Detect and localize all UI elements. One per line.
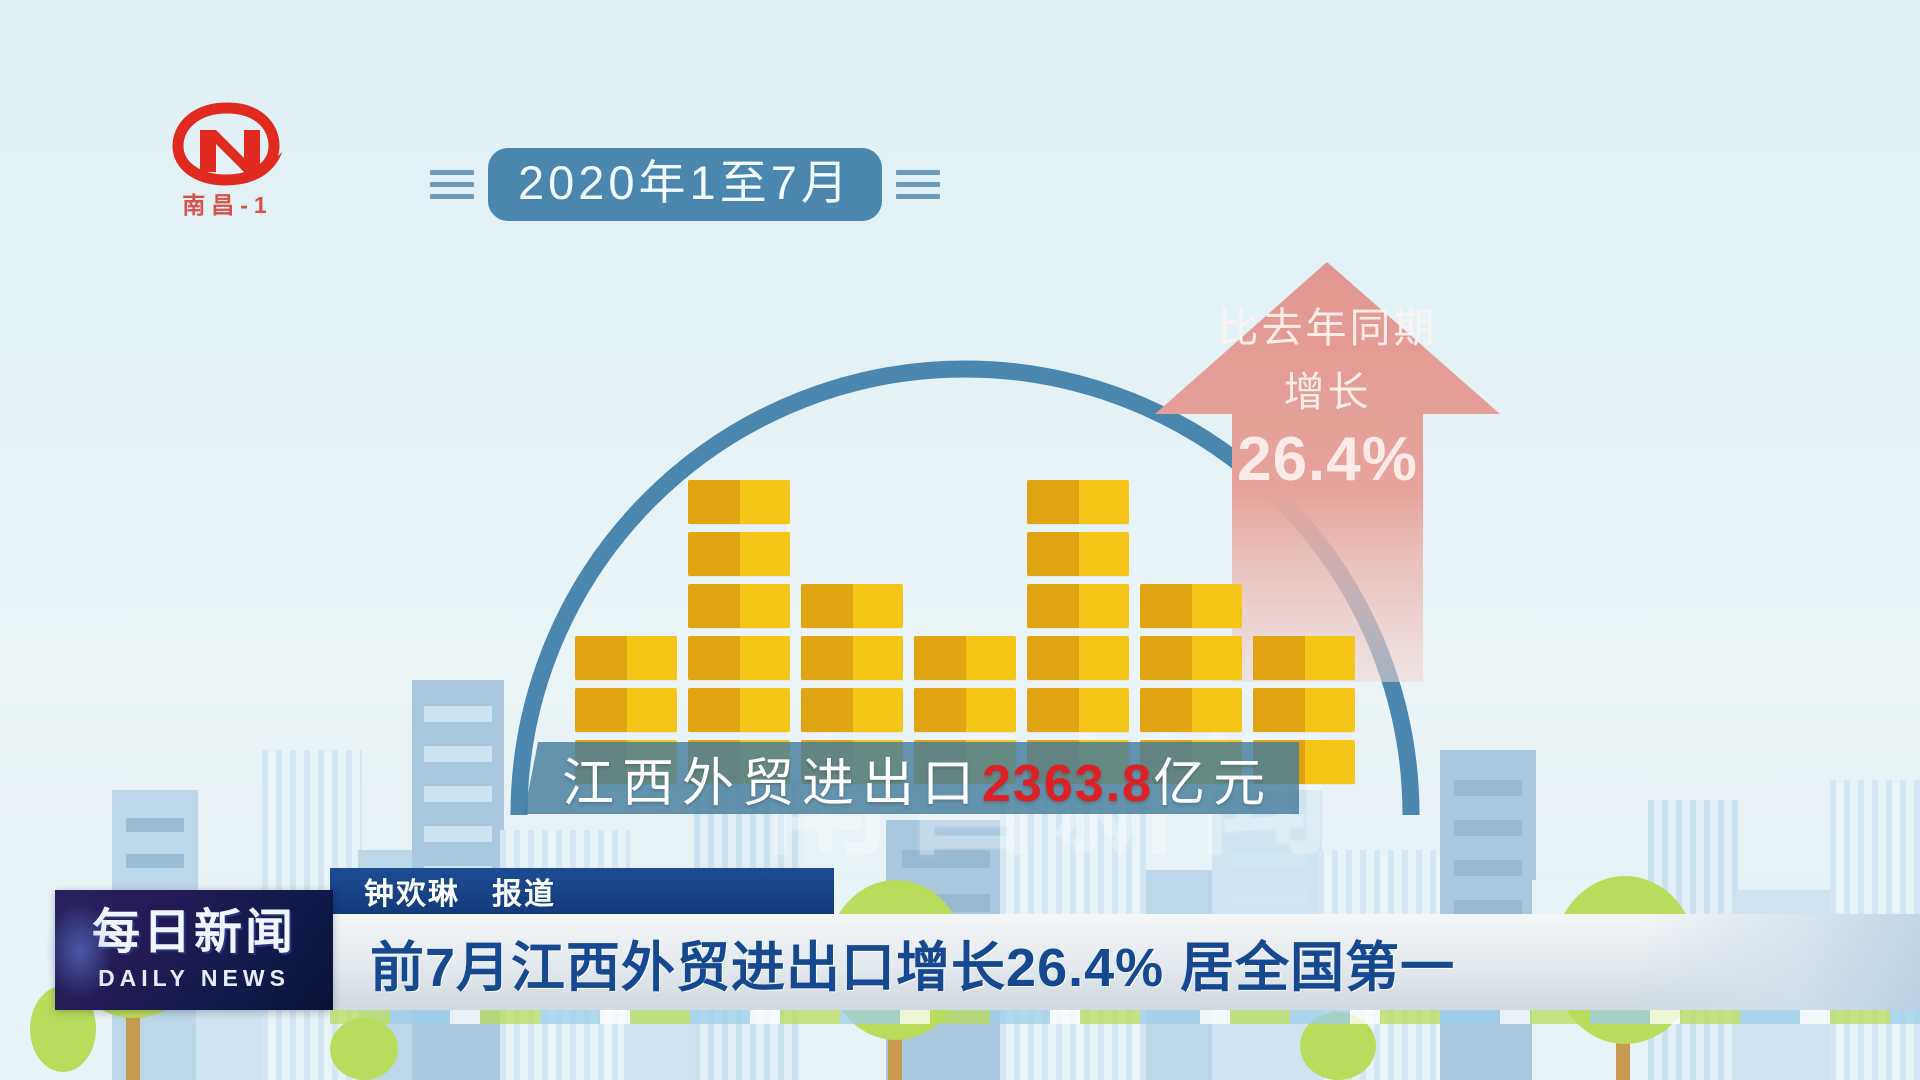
program-name-cn: 每日新闻 [92,909,296,957]
arrow-line-1: 比去年同期 [1155,304,1500,352]
program-name-en: DAILY NEWS [98,965,290,992]
tree [330,1016,400,1080]
banner-suffix: 亿元 [1153,755,1273,813]
gold-ingot-icon [801,688,903,732]
chart-column [688,480,790,784]
station-logo: 南昌-1 [160,100,295,220]
gold-ingot-icon [575,636,677,680]
gold-ingot-icon [1027,480,1129,524]
gold-ingot-icon [1027,636,1129,680]
banner-value: 2363.8 [982,755,1153,813]
gold-ingot-icon [1027,584,1129,628]
gold-ingot-icon [914,636,1016,680]
channel-label: 南昌-1 [160,186,295,220]
gold-bar-chart [575,480,1355,784]
headline-text: 前7月江西外贸进出口增长26.4% 居全国第一 [370,923,1455,1002]
gold-ingot-icon [1027,532,1129,576]
top-title-group: 2020年1至7月 [430,148,940,221]
period-title: 2020年1至7月 [488,148,882,221]
reporter-name: 钟欢琳 报道 [364,869,556,913]
gold-ingot-icon [688,480,790,524]
reporter-bar: 钟欢琳 报道 [330,868,834,914]
logo-glow [45,900,115,1000]
arrow-line-2: 增长 [1155,368,1500,416]
gold-ingot-icon [688,584,790,628]
bottom-color-strip [330,1010,1920,1024]
chart-column [1027,480,1129,784]
gold-ingot-icon [1253,636,1355,680]
triple-line-icon [430,170,474,199]
nanchang-tv-logo-icon [170,100,285,190]
gold-ingot-icon [1027,688,1129,732]
triple-line-icon [896,170,940,199]
trade-value-banner: 江西外贸进出口2363.8亿元 [524,742,1299,814]
gold-ingot-icon [688,636,790,680]
gold-ingot-icon [575,688,677,732]
gold-ingot-icon [688,688,790,732]
gold-ingot-icon [1140,688,1242,732]
gold-ingot-icon [1253,688,1355,732]
gold-ingot-icon [801,584,903,628]
gold-ingot-icon [1140,636,1242,680]
banner-prefix: 江西外贸进出口 [562,755,982,813]
gold-ingot-icon [801,636,903,680]
program-logo: 每日新闻 DAILY NEWS [55,890,333,1010]
gold-ingot-icon [914,688,1016,732]
banner-text: 江西外贸进出口2363.8亿元 [562,741,1273,816]
broadcast-frame: 南昌新闻 比去年同期 增长 26.4% [0,0,1920,1080]
gold-ingot-icon [1140,584,1242,628]
headline-accent [1640,914,1920,1010]
gold-ingot-icon [688,532,790,576]
